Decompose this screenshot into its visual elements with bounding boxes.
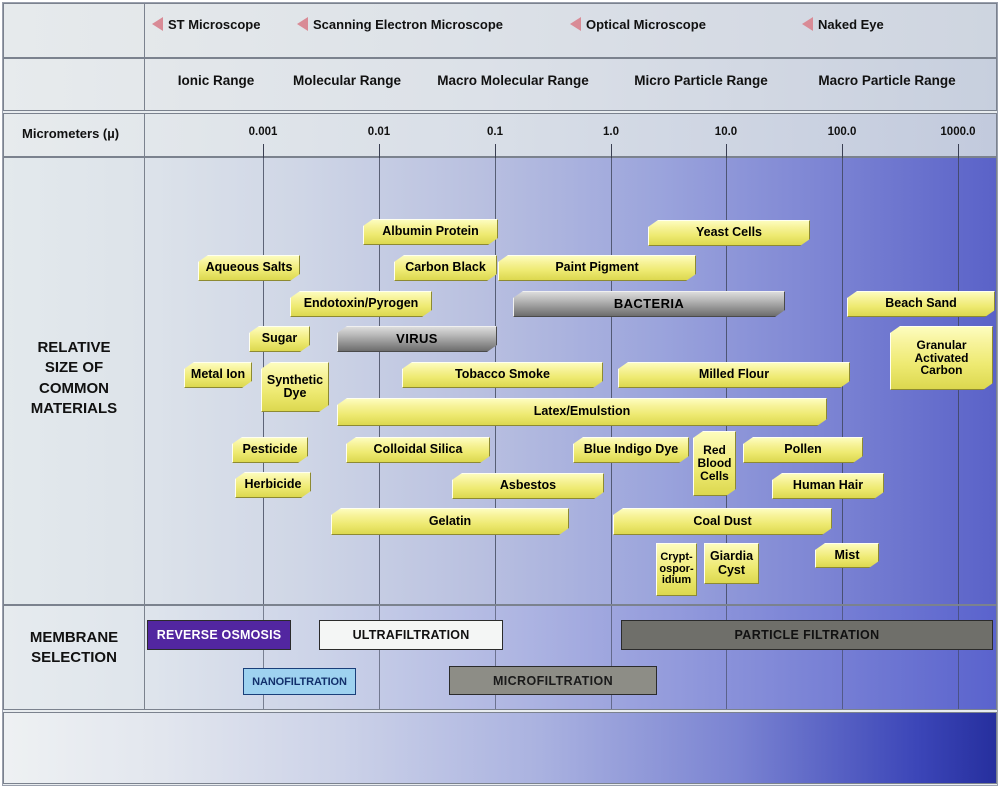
plot-gridline (611, 158, 612, 604)
material-bar-herbicide[interactable]: Herbicide (235, 472, 311, 498)
material-bar-aqueous-salts[interactable]: Aqueous Salts (198, 255, 300, 281)
range-item-micro-particle: Micro Particle Range (617, 73, 785, 88)
scope-range-divider (145, 58, 997, 59)
header-column-divider (144, 3, 145, 111)
range-item-ionic: Ionic Range (160, 73, 272, 88)
axis-tick-mark (263, 144, 264, 158)
axis-tick-label: 100.0 (828, 126, 857, 138)
axis-tick-label: 10.0 (715, 126, 737, 138)
scope-label: ST Microscope (168, 17, 260, 32)
membrane-box-nanofiltration[interactable]: NANOFILTRATION (243, 668, 356, 695)
material-bar-pesticide[interactable]: Pesticide (232, 437, 308, 463)
scale-column-divider (144, 113, 145, 157)
axis-tick-label: 0.001 (249, 126, 278, 138)
axis-tick-mark (495, 144, 496, 158)
membrane-box-ultrafiltration[interactable]: ULTRAFILTRATION (319, 620, 503, 650)
relative-size-row-label: RELATIVE SIZE OF COMMON MATERIALS (6, 338, 142, 419)
axis-label-micrometers: Micrometers (µ) (22, 126, 119, 141)
material-bar-human-hair[interactable]: Human Hair (772, 473, 884, 499)
axis-tick-mark (611, 144, 612, 158)
material-bar-cryptosporidium[interactable]: Crypt- ospor- idium (656, 543, 697, 596)
material-bar-milled-flour[interactable]: Milled Flour (618, 362, 850, 388)
left-arrow-icon (297, 17, 308, 31)
left-arrow-icon (570, 17, 581, 31)
left-arrow-icon (802, 17, 813, 31)
material-bar-latex-emulsion[interactable]: Latex/Emulstion (337, 398, 827, 426)
material-bar-endotoxin-pyrogen[interactable]: Endotoxin/Pyrogen (290, 291, 432, 317)
material-bar-asbestos[interactable]: Asbestos (452, 473, 604, 499)
membrane-box-reverse-osmosis[interactable]: REVERSE OSMOSIS (147, 620, 291, 650)
membrane-box-microfiltration[interactable]: MICROFILTRATION (449, 666, 657, 695)
material-bar-yeast-cells[interactable]: Yeast Cells (648, 220, 810, 246)
filtration-spectrum-chart: ST Microscope Scanning Electron Microsco… (0, 0, 1000, 788)
range-item-molecular: Molecular Range (283, 73, 411, 88)
range-item-macro-molecular: Macro Molecular Range (420, 73, 606, 88)
scope-item-st-microscope[interactable]: ST Microscope (152, 17, 260, 32)
material-bar-tobacco-smoke[interactable]: Tobacco Smoke (402, 362, 603, 388)
range-item-macro-particle: Macro Particle Range (798, 73, 976, 88)
plot-column-divider (144, 157, 145, 605)
membrane-selection-row-label: MEMBRANE SELECTION (6, 628, 142, 669)
material-bar-giardia-cyst[interactable]: Giardia Cyst (704, 543, 759, 584)
material-bar-paint-pigment[interactable]: Paint Pigment (498, 255, 696, 281)
material-bar-metal-ion[interactable]: Metal Ion (184, 362, 252, 388)
scope-label: Scanning Electron Microscope (313, 17, 503, 32)
material-bar-bacteria[interactable]: BACTERIA (513, 291, 785, 317)
left-arrow-icon (152, 17, 163, 31)
scope-label: Naked Eye (818, 17, 884, 32)
scope-item-naked-eye[interactable]: Naked Eye (802, 17, 884, 32)
material-bar-albumin-protein[interactable]: Albumin Protein (363, 219, 498, 245)
material-bar-coal-dust[interactable]: Coal Dust (613, 508, 832, 535)
material-bar-granular-activated-carbon[interactable]: Granular Activated Carbon (890, 326, 993, 390)
material-bar-sugar[interactable]: Sugar (249, 326, 310, 352)
material-bar-red-blood-cells[interactable]: Red Blood Cells (693, 431, 736, 496)
material-bar-virus[interactable]: VIRUS (337, 326, 497, 352)
material-bar-synthetic-dye[interactable]: Synthetic Dye (261, 362, 329, 412)
material-bar-blue-indigo-dye[interactable]: Blue Indigo Dye (573, 437, 689, 463)
footer-gradient-strip (3, 712, 997, 784)
axis-tick-mark (726, 144, 727, 158)
axis-tick-label: 0.1 (487, 126, 503, 138)
membrane-column-divider (144, 605, 145, 710)
material-bar-beach-sand[interactable]: Beach Sand (847, 291, 995, 317)
scope-label: Optical Microscope (586, 17, 706, 32)
axis-tick-mark (379, 144, 380, 158)
scope-item-scanning-electron-microscope[interactable]: Scanning Electron Microscope (297, 17, 503, 32)
material-bar-gelatin[interactable]: Gelatin (331, 508, 569, 535)
axis-tick-label: 1.0 (603, 126, 619, 138)
axis-tick-mark (842, 144, 843, 158)
scope-item-optical-microscope[interactable]: Optical Microscope (570, 17, 706, 32)
material-bar-pollen[interactable]: Pollen (743, 437, 863, 463)
material-bar-mist[interactable]: Mist (815, 543, 879, 568)
axis-tick-label: 1000.0 (940, 126, 975, 138)
material-bar-carbon-black[interactable]: Carbon Black (394, 255, 497, 281)
axis-tick-label: 0.01 (368, 126, 390, 138)
material-bar-colloidal-silica[interactable]: Colloidal Silica (346, 437, 490, 463)
membrane-box-particle-filtration[interactable]: PARTICLE FILTRATION (621, 620, 993, 650)
axis-tick-mark (958, 144, 959, 158)
